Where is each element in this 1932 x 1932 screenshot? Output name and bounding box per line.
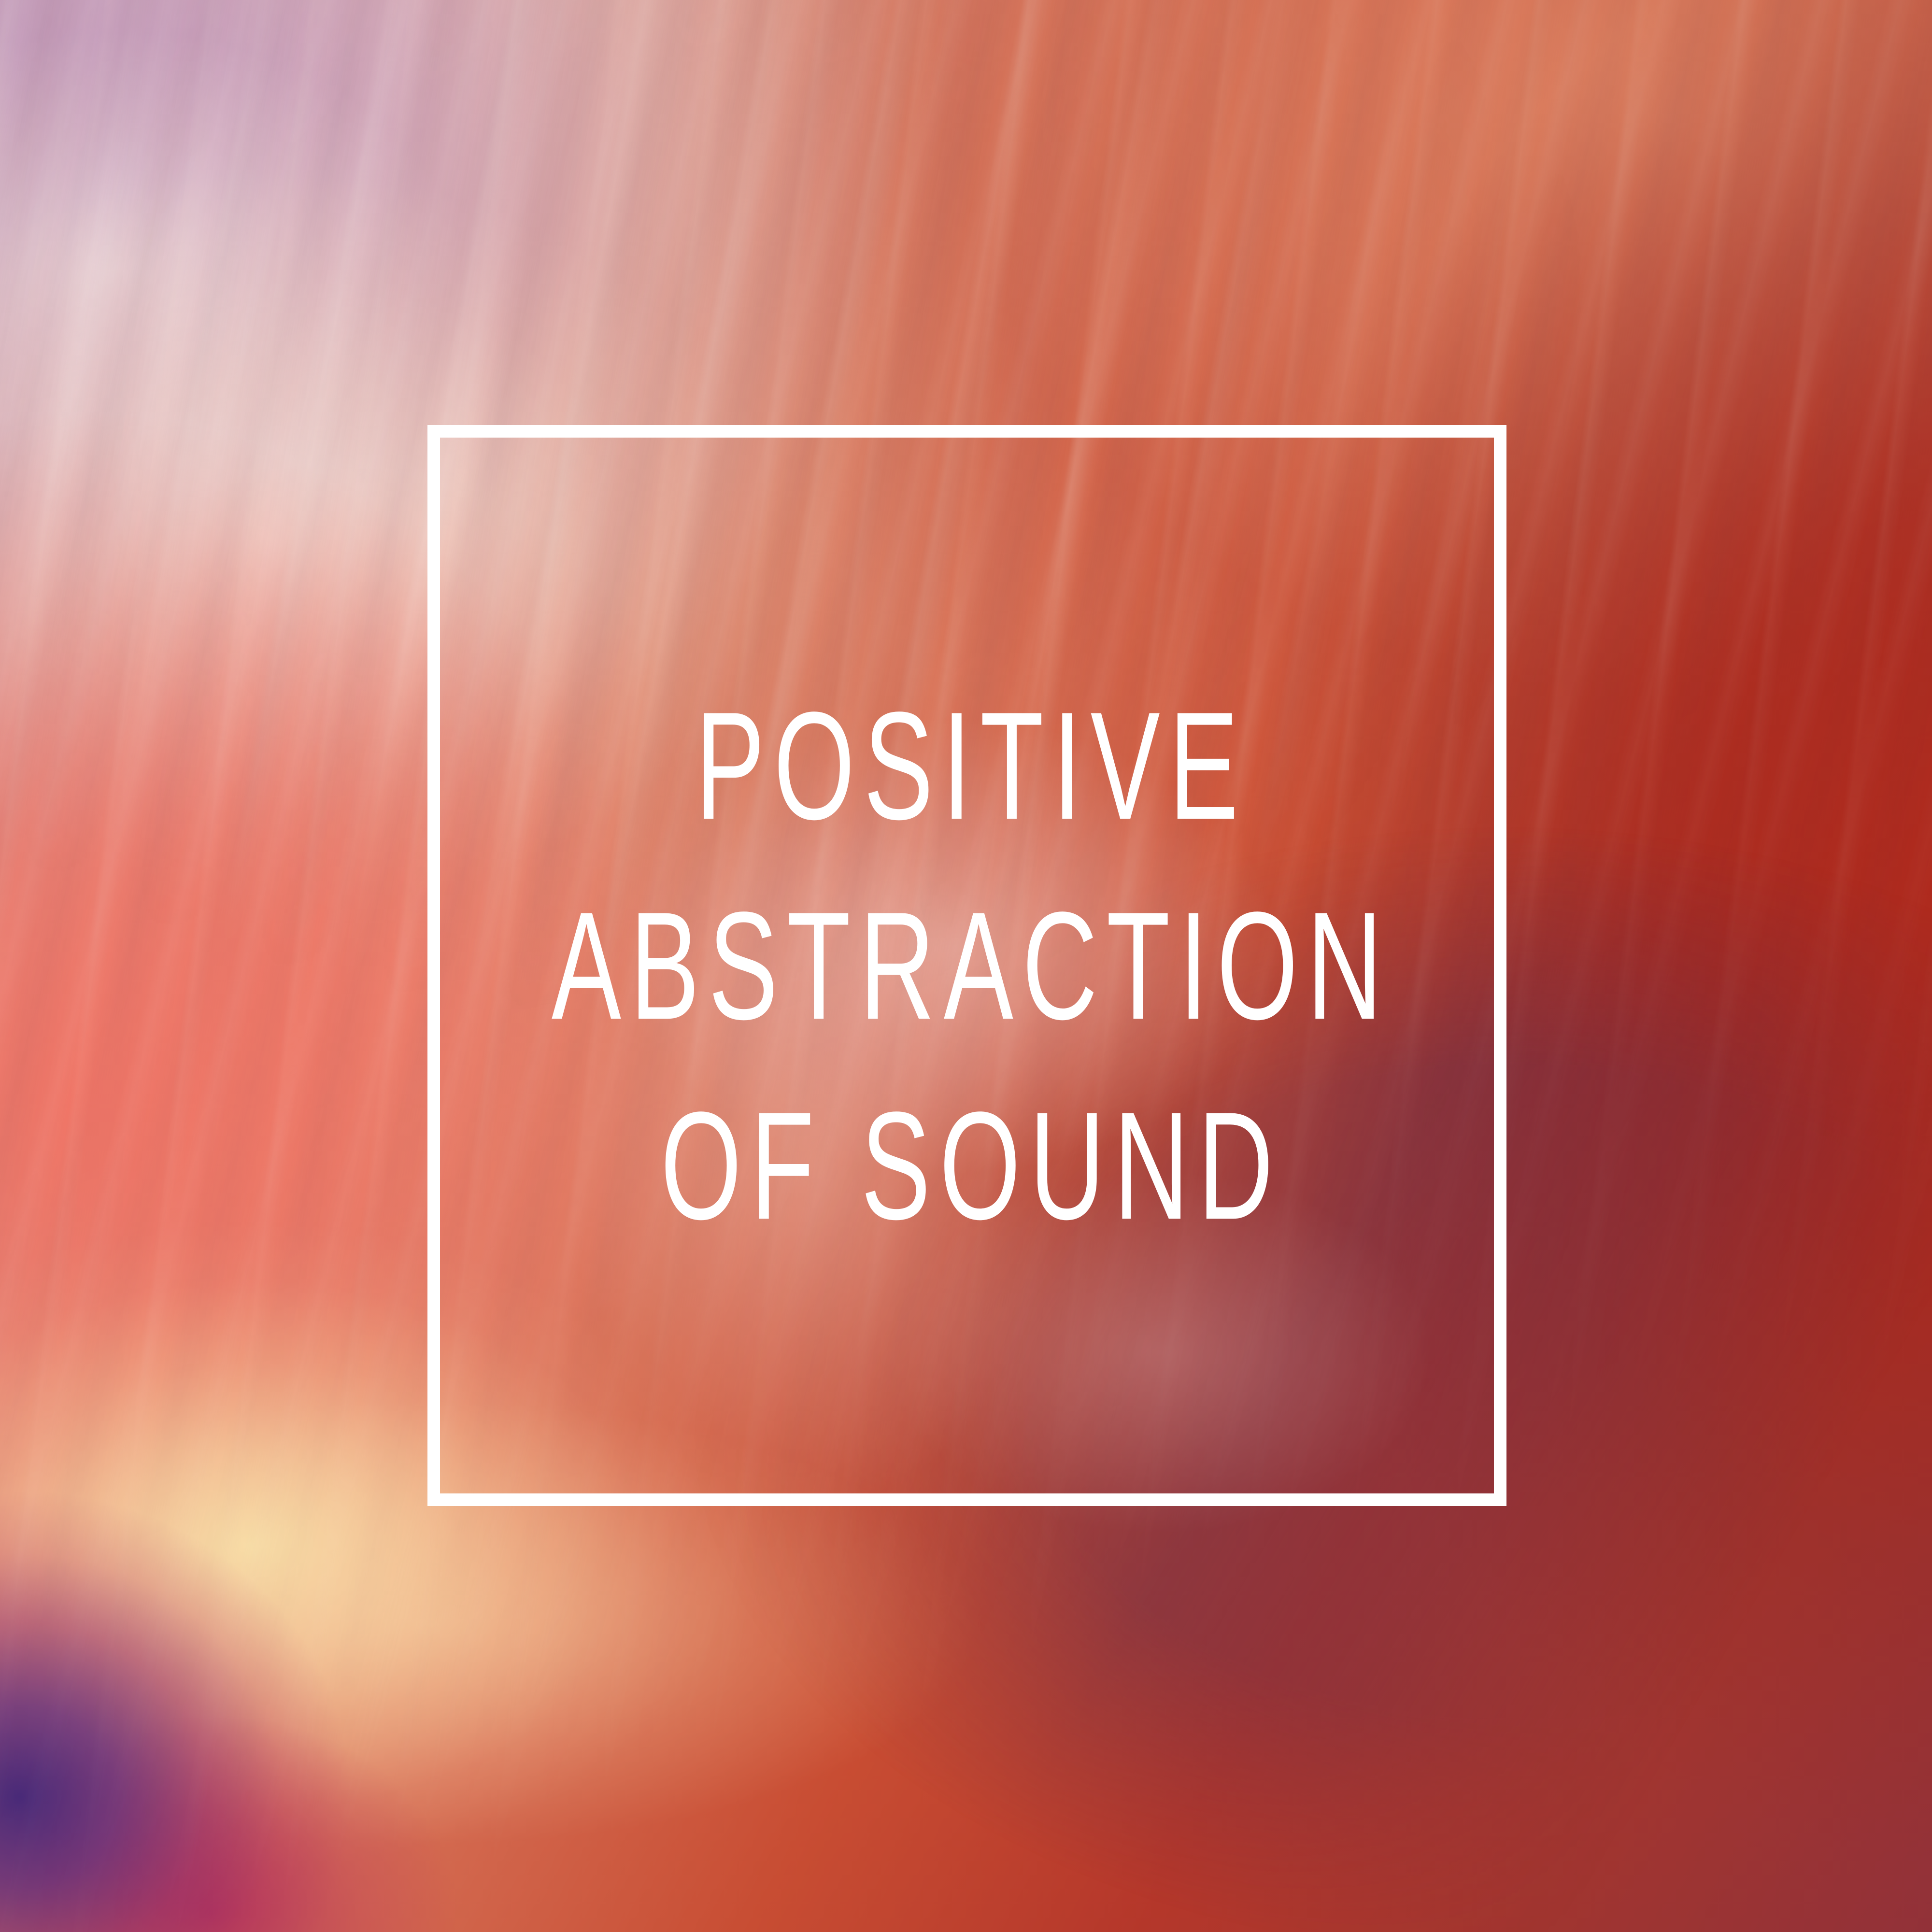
headline-frame: POSITIVE ABSTRACTION OF SOUND [427,425,1506,1506]
poster-canvas: POSITIVE ABSTRACTION OF SOUND [0,0,1932,1932]
title-line-3: OF SOUND [543,1060,1391,1272]
poster-title: POSITIVE ABSTRACTION OF SOUND [378,666,1556,1265]
title-line-1: POSITIVE [543,660,1391,872]
title-line-2: ABSTRACTION [543,860,1391,1072]
